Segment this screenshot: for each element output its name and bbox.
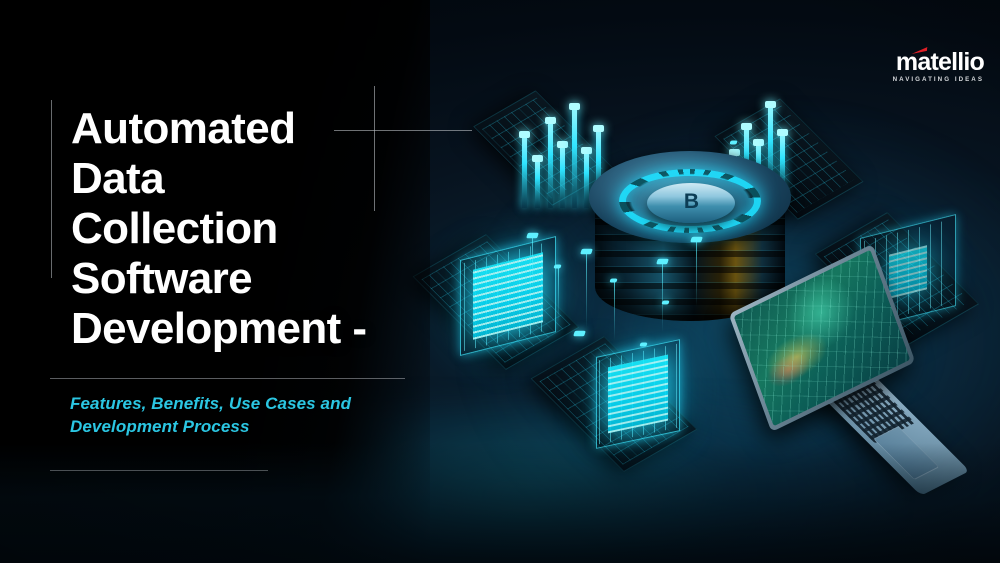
cube-core-glow (608, 354, 669, 433)
subtitle-line: Development Process (70, 415, 390, 438)
chip-tether (558, 268, 559, 322)
data-chip (580, 249, 593, 255)
coin-emblem: B (647, 183, 735, 223)
title-line: Automated (71, 104, 411, 154)
data-bar (535, 160, 540, 208)
data-chip (690, 237, 703, 243)
page-title: Automated Data Collection Software Devel… (71, 104, 411, 354)
left-accent-line (51, 100, 52, 278)
logo-tagline: NAVIGATING IDEAS (874, 76, 984, 83)
chip-tether (614, 282, 615, 340)
chip-tether (696, 240, 697, 306)
data-bar (522, 136, 527, 208)
logo-wordmark: matellio (896, 49, 984, 75)
coin-glyph: B (647, 190, 735, 214)
title-line: Development - (71, 304, 411, 354)
page-subtitle: Features, Benefits, Use Cases and Develo… (70, 392, 390, 438)
floor-reflection (0, 443, 1000, 563)
divider-below-subtitle (50, 470, 268, 471)
laptop (730, 278, 980, 468)
hero-banner: B (0, 0, 1000, 563)
title-line: Software (71, 254, 411, 304)
title-line: Collection (71, 204, 411, 254)
data-chip (573, 331, 586, 337)
title-line: Data (71, 154, 411, 204)
divider-above-subtitle (50, 378, 405, 379)
data-bar (560, 146, 565, 208)
data-chip (553, 265, 561, 269)
data-bar (548, 122, 553, 208)
data-chip (656, 259, 669, 265)
data-chip (526, 233, 539, 239)
chip-tether (662, 262, 663, 332)
subtitle-line: Features, Benefits, Use Cases and (70, 392, 390, 415)
chip-tether (586, 252, 587, 328)
brand-logo[interactable]: matellio NAVIGATING IDEAS (874, 49, 984, 83)
chip-tether (532, 236, 533, 298)
